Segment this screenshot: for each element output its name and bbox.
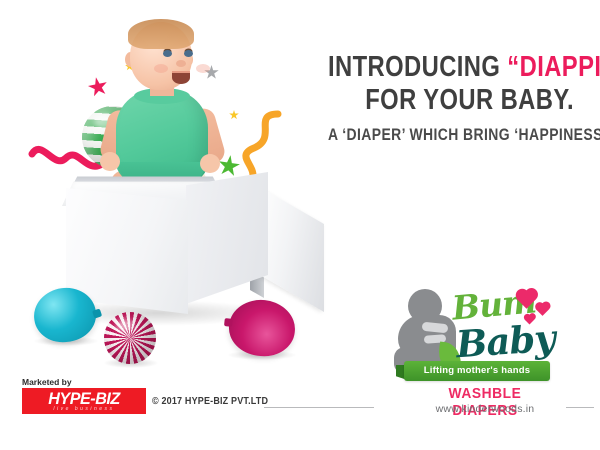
copyright-text: © 2017 HYPE-BIZ PVT.LTD bbox=[152, 396, 268, 407]
headline-line-3: A ‘DIAPER’ WHICH BRING ‘HAPPINESS’! bbox=[328, 126, 574, 144]
tagline-text: Lifting mother's hands bbox=[404, 361, 550, 381]
bum-baby-logo: Bum Baby Lifting mother's hands WASHBLE … bbox=[392, 283, 582, 415]
baby-eye-left bbox=[163, 50, 172, 57]
divider-right bbox=[566, 407, 594, 408]
baby-nose bbox=[176, 60, 186, 67]
hype-biz-tagline: live business bbox=[22, 406, 146, 412]
hype-biz-logo: HYPE-BIZ live business bbox=[22, 388, 146, 414]
baby-hand-left bbox=[100, 152, 120, 171]
website-url[interactable]: www.kinderwoods.in bbox=[410, 403, 560, 415]
balloon-knot bbox=[224, 318, 233, 327]
headline-accent-word: “DIAPPINESS” bbox=[507, 51, 600, 83]
silhouette-head bbox=[408, 289, 442, 323]
baby-hair bbox=[128, 19, 194, 49]
baby-cheek-right bbox=[196, 64, 210, 73]
baby-eye-right bbox=[184, 50, 193, 57]
baby-figure bbox=[108, 22, 238, 202]
headline-line-1-prefix: INTRODUCING bbox=[328, 51, 507, 83]
headline-line-1: INTRODUCING “DIAPPINESS” bbox=[328, 52, 574, 82]
heart-icon-medium bbox=[536, 303, 549, 316]
headline-block: INTRODUCING “DIAPPINESS” FOR YOUR BABY. … bbox=[274, 52, 574, 144]
baby-hand-right bbox=[200, 154, 220, 173]
logo-word-baby: Baby bbox=[455, 316, 556, 367]
headline-line-2: FOR YOUR BABY. bbox=[328, 85, 574, 115]
marketed-by-label: Marketed by bbox=[22, 377, 72, 387]
tagline-ribbon: Lifting mother's hands bbox=[404, 361, 550, 381]
pink-striped-ball bbox=[104, 312, 156, 364]
baby-cheek-left bbox=[154, 64, 168, 73]
baby-mouth bbox=[172, 71, 190, 84]
advertisement-canvas: INTRODUCING “DIAPPINESS” FOR YOUR BABY. … bbox=[0, 0, 600, 450]
pink-star-icon bbox=[86, 75, 110, 99]
divider-left bbox=[264, 407, 374, 408]
